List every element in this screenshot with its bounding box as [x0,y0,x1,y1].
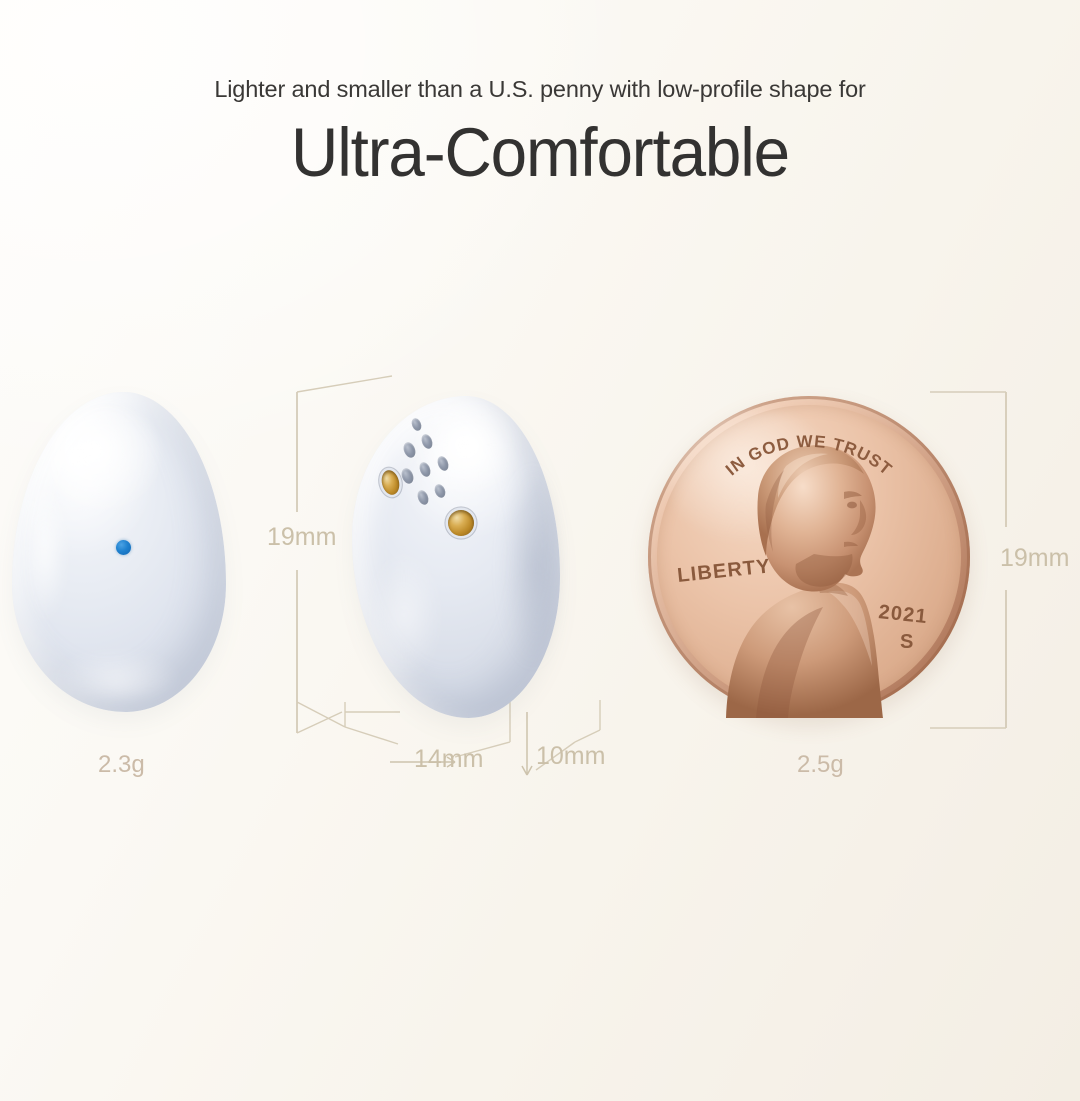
product-comparison-page: Lighter and smaller than a U.S. penny wi… [0,0,1080,1101]
earbud-highlight-left [369,551,440,680]
dimension-label-width: 14mm [414,747,483,772]
coin-mint-mark-text: S [900,631,915,653]
dimension-label-penny-diameter: 19mm [1000,546,1069,571]
earbud-highlight-top [414,402,522,499]
headline-block: Lighter and smaller than a U.S. penny wi… [0,74,1080,193]
us-penny: IN GOD WE TRUST LIBERTY 2021 S [648,396,970,718]
weight-label-penny: 2.5g [797,753,844,777]
earbud-rear-view [352,396,560,718]
page-title: Ultra-Comfortable [27,113,1053,193]
subtitle-text: Lighter and smaller than a U.S. penny wi… [0,74,1080,104]
weight-label-earbud: 2.3g [98,753,145,777]
earbud-shadow-right [502,467,556,667]
dimension-label-depth: 10mm [536,744,605,769]
coin-year-text: 2021 [877,601,928,628]
penny-relief: IN GOD WE TRUST LIBERTY 2021 S [648,396,970,718]
earbud-highlight-top [46,408,166,517]
earbud-front-view [12,392,226,712]
dimension-label-height: 19mm [267,525,336,550]
charging-contact-icon [448,510,474,536]
coin-liberty-text: LIBERTY [676,555,772,587]
earbud-highlight-bottom [55,651,179,702]
led-indicator-icon [116,540,131,555]
